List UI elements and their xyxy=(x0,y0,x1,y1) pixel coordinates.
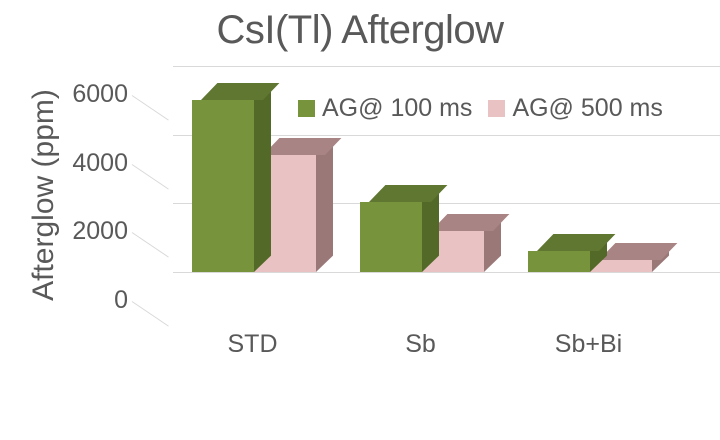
legend-label: AG@ 500 ms xyxy=(512,96,662,121)
chart-container: CsI(Tl) Afterglow Afterglow (ppm) 600040… xyxy=(0,0,720,440)
bar-front-face xyxy=(360,202,422,272)
bar-side-face xyxy=(316,139,333,272)
bar-front-face xyxy=(528,251,590,272)
legend-label: AG@ 100 ms xyxy=(322,96,472,121)
legend-item-2[interactable]: AG@ 500 ms xyxy=(488,96,662,121)
bar-sb-series1 xyxy=(360,202,422,272)
bars-group xyxy=(132,56,720,288)
x-tick-label-sb-bi: Sb+Bi xyxy=(518,330,659,359)
y-tick-label: 6000 xyxy=(38,82,128,107)
x-tick-label-sb: Sb xyxy=(350,330,491,359)
x-tick-label-std: STD xyxy=(182,330,323,359)
legend-item-1[interactable]: AG@ 100 ms xyxy=(298,96,472,121)
bar-std-series1 xyxy=(192,100,254,272)
chart-legend: AG@ 100 msAG@ 500 ms xyxy=(298,96,663,121)
y-tick-label: 0 xyxy=(38,288,128,313)
plot-area xyxy=(132,56,720,288)
y-axis-tick-labels: 6000400020000 xyxy=(0,0,128,440)
y-tick-label: 4000 xyxy=(38,151,128,176)
legend-swatch-icon xyxy=(298,100,315,117)
gridline-slant xyxy=(132,301,169,326)
bar-sb-bi-series1 xyxy=(528,251,590,272)
bar-front-face xyxy=(192,100,254,272)
y-tick-label: 2000 xyxy=(38,219,128,244)
bar-side-face xyxy=(254,84,271,272)
legend-swatch-icon xyxy=(488,100,505,117)
